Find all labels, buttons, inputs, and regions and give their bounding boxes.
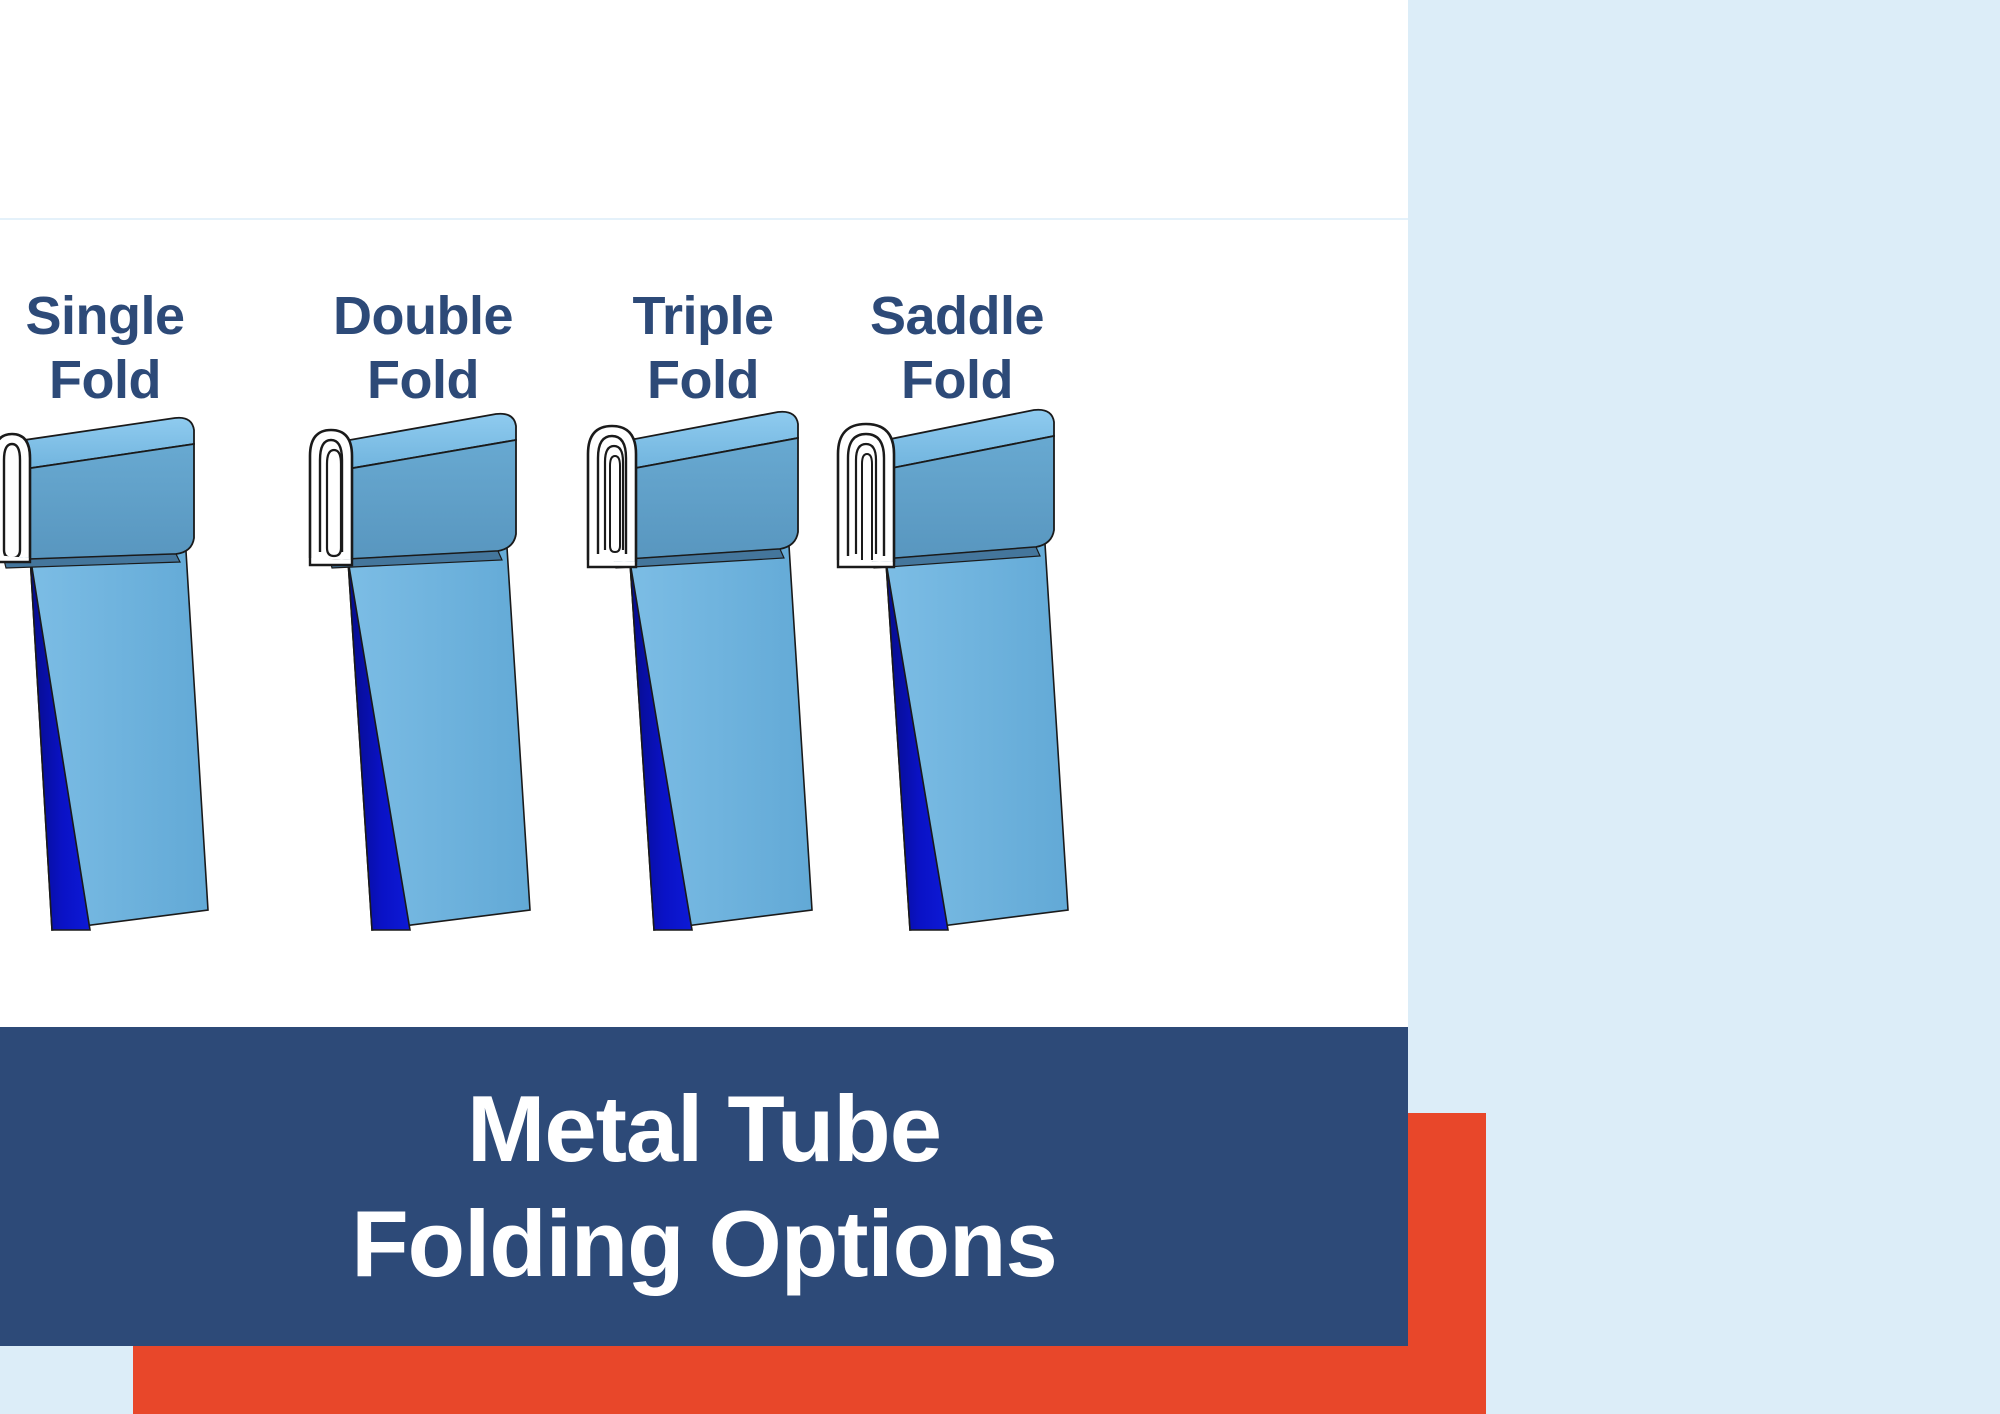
tube-illustration-triple-fold bbox=[558, 410, 848, 1030]
divider-hairline bbox=[0, 218, 1408, 220]
tube-illustration-double-fold bbox=[278, 410, 568, 1030]
tube-label-line1: Saddle bbox=[812, 285, 1102, 349]
title-line-2: Folding Options bbox=[351, 1187, 1057, 1302]
tube-label-line1: Double bbox=[278, 285, 568, 349]
tube-label-line2: Fold bbox=[278, 349, 568, 413]
tube-body-triple-fold bbox=[630, 530, 812, 930]
tube-diagram-area: Single Fold bbox=[0, 240, 1408, 1030]
tube-column-saddle-fold: Saddle Fold bbox=[812, 240, 1102, 1030]
tube-column-triple-fold: Triple Fold bbox=[558, 240, 848, 1030]
tube-label-line2: Fold bbox=[812, 349, 1102, 413]
fold-crimp-single bbox=[0, 434, 30, 562]
tube-illustration-saddle-fold bbox=[812, 410, 1102, 1030]
title-banner: Metal Tube Folding Options bbox=[0, 1027, 1408, 1346]
tube-body-double-fold bbox=[348, 532, 530, 930]
infographic-canvas: Single Fold bbox=[0, 0, 2000, 1414]
tube-label-saddle-fold: Saddle Fold bbox=[812, 285, 1102, 412]
fold-crimp-triple bbox=[588, 426, 636, 567]
tube-label-line1: Triple bbox=[558, 285, 848, 349]
tube-label-line2: Fold bbox=[0, 349, 250, 413]
tube-label-line1: Single bbox=[0, 285, 250, 349]
tube-body-saddle-fold bbox=[886, 528, 1068, 930]
fold-crimp-saddle bbox=[838, 424, 894, 567]
background-panel-right bbox=[1408, 0, 2000, 1414]
tube-label-double-fold: Double Fold bbox=[278, 285, 568, 412]
tube-column-double-fold: Double Fold bbox=[278, 240, 568, 1030]
tube-column-single-fold: Single Fold bbox=[0, 240, 250, 1030]
tube-label-triple-fold: Triple Fold bbox=[558, 285, 848, 412]
fold-crimp-double bbox=[310, 430, 352, 565]
tube-label-single-fold: Single Fold bbox=[0, 285, 250, 412]
title-line-1: Metal Tube bbox=[467, 1072, 941, 1187]
tube-body-single-fold bbox=[30, 535, 208, 930]
tube-label-line2: Fold bbox=[558, 349, 848, 413]
tube-illustration-single-fold bbox=[0, 410, 250, 1030]
